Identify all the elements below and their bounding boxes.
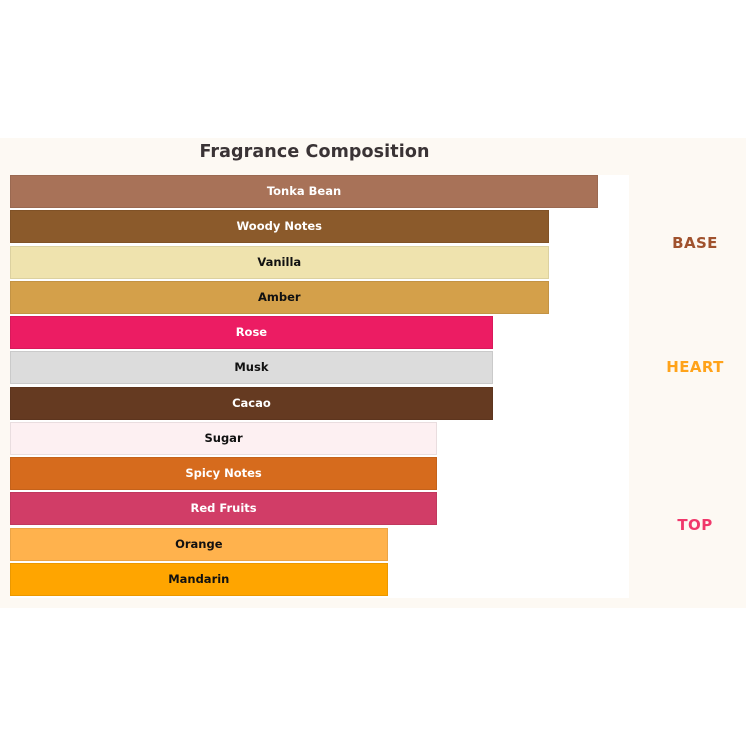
- chart-figure: Fragrance Composition Tonka BeanWoody No…: [0, 138, 746, 608]
- page-title: Fragrance Composition: [0, 142, 629, 162]
- bar-mandarin[interactable]: [10, 563, 388, 596]
- group-label-heart: HEART: [645, 358, 745, 376]
- plot-area: Tonka BeanWoody NotesVanillaAmberRoseMus…: [10, 175, 629, 598]
- bar-cacao[interactable]: [10, 387, 493, 420]
- bar-woody-notes[interactable]: [10, 210, 549, 243]
- group-label-top: TOP: [645, 516, 745, 534]
- bar-amber[interactable]: [10, 281, 549, 314]
- bar-musk[interactable]: [10, 351, 493, 384]
- bar-tonka-bean[interactable]: [10, 175, 598, 208]
- bar-sugar[interactable]: [10, 422, 437, 455]
- bar-red-fruits[interactable]: [10, 492, 437, 525]
- bar-rose[interactable]: [10, 316, 493, 349]
- group-label-base: BASE: [645, 234, 745, 252]
- bar-spicy-notes[interactable]: [10, 457, 437, 490]
- bar-vanilla[interactable]: [10, 246, 549, 279]
- bar-orange[interactable]: [10, 528, 388, 561]
